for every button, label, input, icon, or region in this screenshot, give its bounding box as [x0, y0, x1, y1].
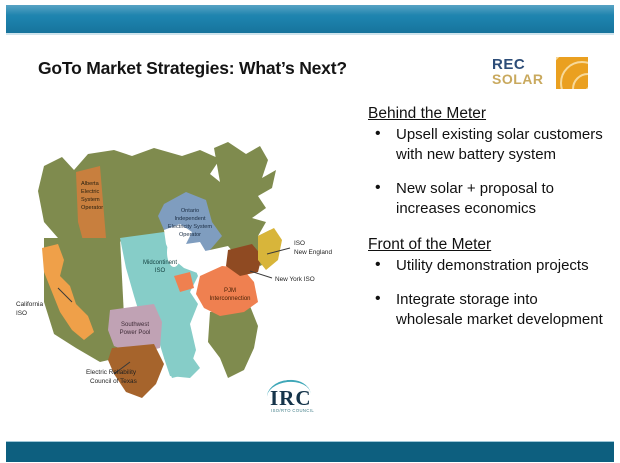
- list-item: Integrate storage into wholesale market …: [368, 290, 608, 330]
- top-banner: [6, 5, 614, 34]
- map-label-iso-new-england-2: New England: [294, 249, 332, 256]
- bottom-banner: [6, 441, 614, 462]
- solar-wordmark: SOLAR: [492, 72, 544, 86]
- content-column: Behind the Meter Upsell existing solar c…: [368, 104, 608, 344]
- map-label-new-york-iso: New York ISO: [275, 276, 315, 283]
- map-label-ontario-3: Electricity System: [168, 224, 212, 230]
- map-label-southwest-power-pool: Southwest: [121, 322, 149, 328]
- map-graphic: Alberta Electric System Operator Ontario…: [14, 126, 344, 421]
- irc-logo: IRC ISO/RTO COUNCIL: [262, 379, 328, 417]
- map-label-ontario-4: Operator: [179, 232, 201, 238]
- map-label-ercot: Electric Reliability: [86, 369, 137, 376]
- map-region-southeast: [208, 306, 258, 378]
- irc-wordmark: IRC: [270, 388, 312, 409]
- map-label-ontario: Ontario: [181, 208, 199, 214]
- map-label-california-iso-2: ISO: [16, 310, 27, 317]
- map-label-alberta: Alberta: [81, 181, 100, 187]
- map-label-midcontinent-iso: Midcontinent: [143, 260, 177, 266]
- section-heading-front-of-the-meter: Front of the Meter: [368, 235, 608, 254]
- rec-solar-logo: REC SOLAR: [492, 57, 588, 91]
- north-america-iso-rto-map: Alberta Electric System Operator Ontario…: [14, 126, 344, 421]
- map-region-miso-louisiana: [164, 354, 200, 378]
- map-label-ercot-2: Council of Texas: [90, 378, 137, 385]
- rec-wordmark: REC: [492, 58, 525, 72]
- map-label-pjm: PJM: [224, 288, 236, 294]
- list-item: New solar + proposal to increases econom…: [368, 179, 608, 219]
- map-label-midcontinent-iso-2: ISO: [155, 268, 166, 274]
- banner-sheen: [6, 5, 614, 15]
- map-label-ontario-2: Independent: [174, 216, 206, 222]
- map-region-iso-new-england: [258, 228, 282, 270]
- page-title: GoTo Market Strategies: What’s Next?: [38, 58, 347, 79]
- irc-subtitle: ISO/RTO COUNCIL: [271, 408, 314, 413]
- section-heading-behind-the-meter: Behind the Meter: [368, 104, 608, 123]
- bullet-list-front-of-the-meter: Utility demonstration projects Integrate…: [368, 256, 608, 330]
- leader-line-new-york-iso: [250, 271, 272, 278]
- map-label-alberta-3: System: [81, 197, 100, 203]
- map-label-pjm-2: Interconnection: [209, 296, 250, 302]
- list-item: Upsell existing solar customers with new…: [368, 125, 608, 165]
- sun-arc-icon: [556, 57, 588, 89]
- map-label-southwest-power-pool-2: Power Pool: [120, 330, 151, 336]
- map-label-alberta-4: Operator: [81, 205, 103, 211]
- list-item: Utility demonstration projects: [368, 256, 608, 276]
- slide: GoTo Market Strategies: What’s Next? REC…: [0, 0, 620, 463]
- bullet-list-behind-the-meter: Upsell existing solar customers with new…: [368, 125, 608, 219]
- banner-edge: [6, 33, 614, 35]
- map-label-iso-new-england: ISO: [294, 240, 305, 247]
- map-label-alberta-2: Electric: [81, 189, 100, 195]
- map-label-california-iso: California: [16, 301, 43, 308]
